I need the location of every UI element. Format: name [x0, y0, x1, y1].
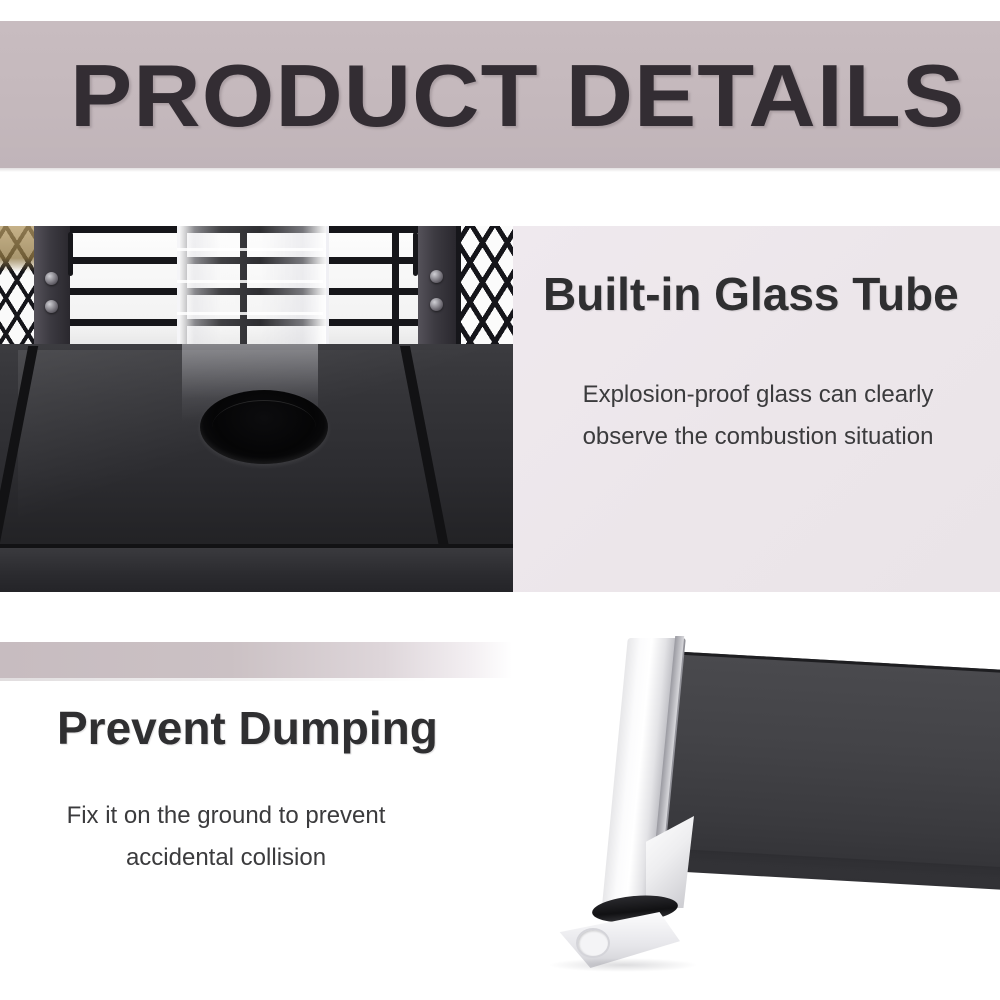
section-body: Explosion-proof glass can clearly observ…: [533, 374, 983, 458]
section-body: Fix it on the ground to prevent accident…: [24, 795, 428, 879]
frame-post-right: [418, 226, 456, 356]
page-title: PRODUCT DETAILS: [70, 52, 1000, 140]
bolt-icon: [45, 300, 58, 313]
glass-tube-ring: [177, 312, 323, 315]
section-built-in-glass-tube: Built-in Glass Tube Explosion-proof glas…: [0, 226, 1000, 592]
accent-bar: [0, 642, 512, 678]
anchor-foot-photo: [520, 610, 1000, 1000]
section-body-line-1: Fix it on the ground to prevent: [24, 795, 428, 837]
section-body-line-2: observe the combustion situation: [533, 416, 983, 458]
anchor-bolt-hole: [576, 928, 610, 958]
grille-hook: [68, 232, 73, 276]
bolt-icon: [45, 272, 58, 285]
section-heading: Built-in Glass Tube: [543, 268, 983, 320]
section-body-line-2: accidental collision: [24, 837, 428, 879]
section-body-line-1: Explosion-proof glass can clearly: [533, 374, 983, 416]
glass-tube-ring: [177, 248, 323, 251]
glass-tube-text-panel: Built-in Glass Tube Explosion-proof glas…: [513, 226, 1000, 592]
glass-tube-photo: [0, 226, 513, 592]
left-mesh-warm-reflection: [0, 226, 34, 272]
burner-opening: [200, 390, 328, 464]
base-plate-front-face: [0, 548, 513, 592]
section-heading: Prevent Dumping: [57, 702, 497, 754]
frame-post-left: [34, 226, 70, 356]
product-details-infographic: PRODUCT DETAILS: [0, 0, 1000, 1000]
bolt-icon: [430, 298, 443, 311]
glass-tube-ring: [177, 280, 323, 283]
grille-hook: [413, 232, 418, 276]
grille-vertical-bar: [392, 226, 399, 344]
bolt-icon: [430, 270, 443, 283]
foot-ground-shadow: [548, 958, 698, 972]
